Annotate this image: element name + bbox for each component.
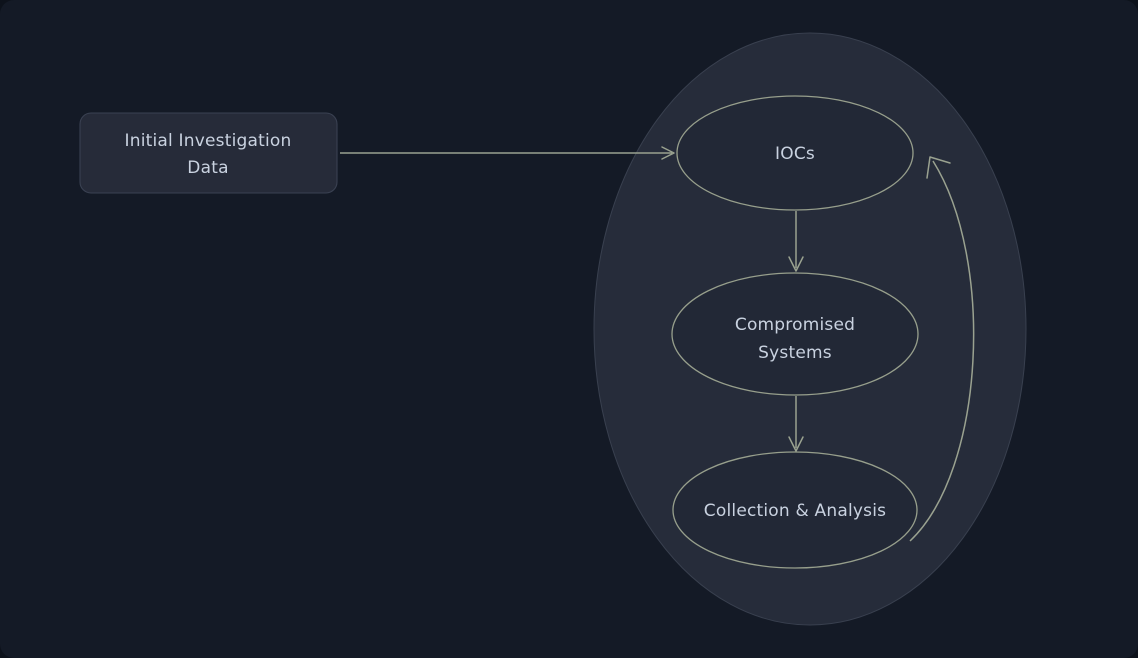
- node-compromised-systems[interactable]: Compromised Systems: [672, 273, 918, 395]
- node-initial-investigation-data-label-line1: Initial Investigation: [125, 131, 292, 151]
- node-initial-investigation-data-label-line2: Data: [187, 158, 228, 178]
- cyber-investigation-flow-diagram: IOCs Compromised Systems Collection & An…: [0, 0, 1138, 658]
- node-compromised-systems-label-line2: Systems: [758, 343, 832, 363]
- node-collection-and-analysis[interactable]: Collection & Analysis: [673, 452, 917, 568]
- node-initial-investigation-data[interactable]: Initial Investigation Data: [80, 113, 337, 193]
- node-compromised-systems-label-line1: Compromised: [735, 315, 855, 335]
- node-iocs-label: IOCs: [775, 144, 815, 164]
- node-iocs[interactable]: IOCs: [677, 96, 913, 210]
- diagram-canvas: IOCs Compromised Systems Collection & An…: [0, 0, 1138, 658]
- edge-input-to-iocs: [340, 147, 674, 159]
- node-initial-investigation-data-shape[interactable]: [80, 113, 337, 193]
- node-collection-and-analysis-label: Collection & Analysis: [704, 501, 886, 521]
